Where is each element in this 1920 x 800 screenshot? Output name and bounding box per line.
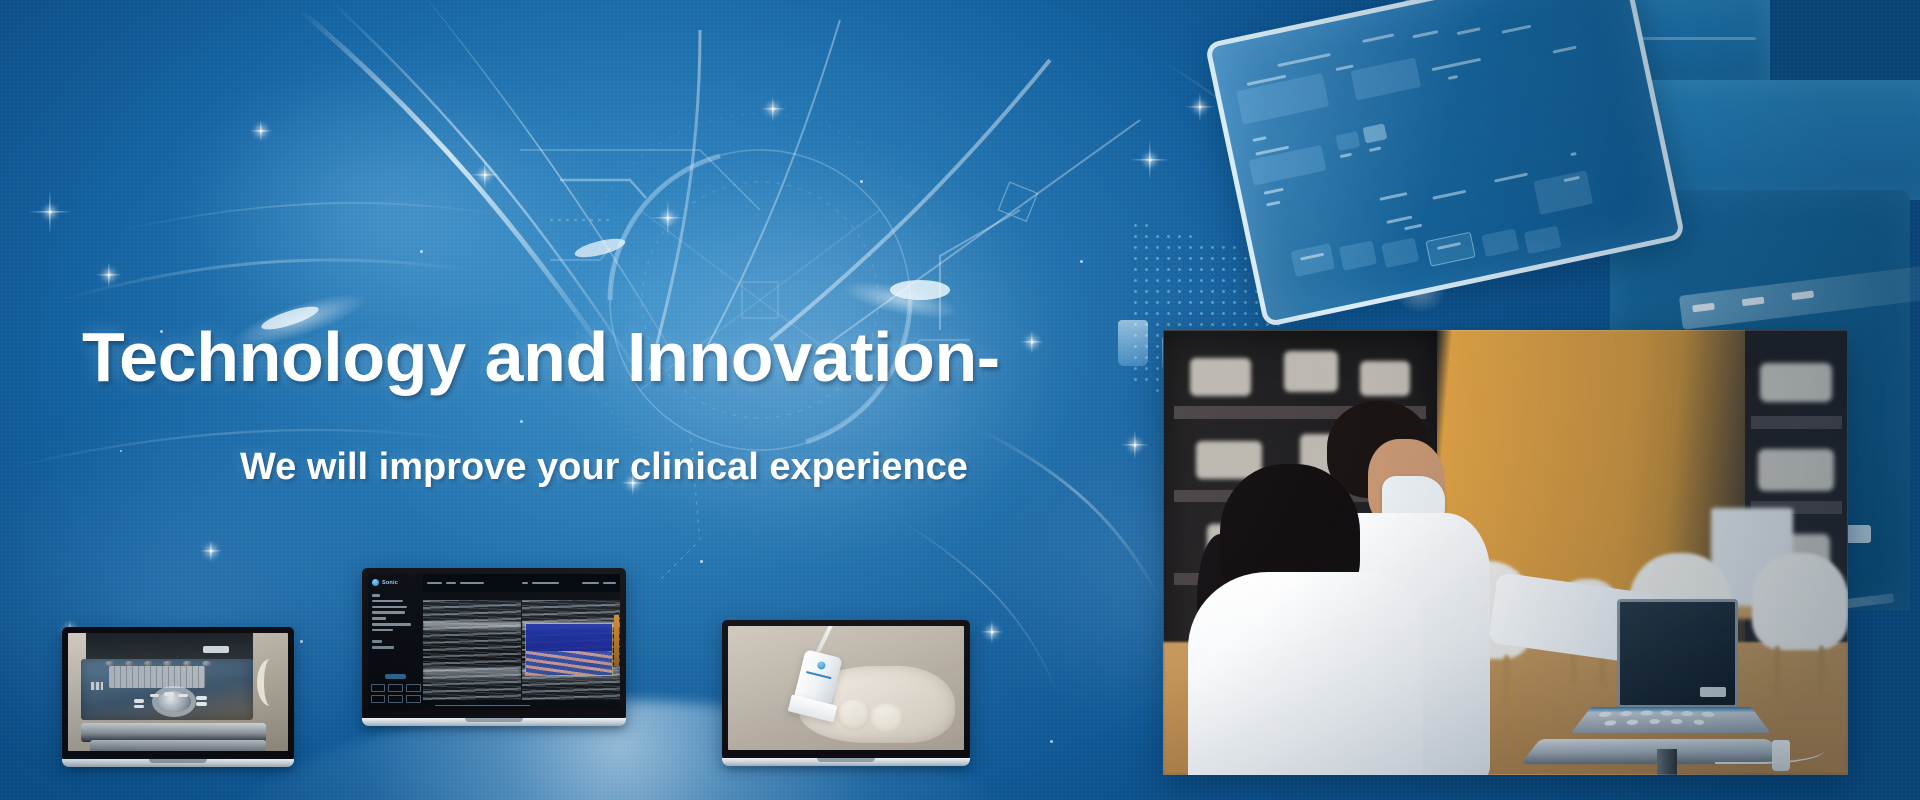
sparkle-star xyxy=(250,120,272,142)
laptop-base xyxy=(362,718,626,726)
page-subtitle: We will improve your clinical experience xyxy=(240,448,968,486)
software-toolbar xyxy=(371,674,421,703)
sparkle-star xyxy=(470,160,500,190)
hero-banner: Technology and Innovation- We will impro… xyxy=(0,0,1920,800)
particle-dot xyxy=(520,420,523,423)
laptop-base xyxy=(722,758,970,766)
toolbar-icon-grid[interactable] xyxy=(371,684,421,703)
sparkle-star xyxy=(1020,330,1044,354)
glove-finger xyxy=(870,703,903,733)
bmode-image-pane xyxy=(423,600,521,710)
console-accent-stripe xyxy=(1679,264,1920,329)
software-logo: Sonic xyxy=(372,579,419,586)
particle-dot xyxy=(120,450,122,452)
clinicians-photo xyxy=(1163,330,1848,775)
software-status-bar xyxy=(423,574,620,592)
ultrasound-software-ui: Sonic xyxy=(368,574,620,710)
sparkle-star xyxy=(760,96,786,122)
particle-dot xyxy=(300,640,303,643)
sparkle-star xyxy=(1120,430,1150,460)
bmode-ultrasound-image xyxy=(423,600,521,710)
logo-bubble-icon xyxy=(372,579,379,586)
depth-scale-bar xyxy=(435,705,529,707)
laptop-lid xyxy=(62,627,294,759)
color-doppler-overlay xyxy=(526,624,612,675)
parameter-block-primary xyxy=(372,594,419,631)
ultrasound-control-panel-photo xyxy=(68,633,288,751)
panel-base xyxy=(90,740,266,751)
software-image-area xyxy=(423,574,620,710)
particle-dot xyxy=(420,250,423,253)
console-touchscreen-panel xyxy=(1205,0,1686,328)
sparkle-star xyxy=(96,262,122,288)
ultrasound-console-illustration xyxy=(1100,0,1920,380)
doppler-color-scale xyxy=(614,615,619,666)
console-shelf xyxy=(1610,80,1920,200)
doppler-image-pane xyxy=(522,600,620,710)
console-support-arm xyxy=(1401,0,1628,116)
sparkle-star xyxy=(1185,92,1215,122)
particle-dot xyxy=(1080,260,1083,263)
probe-logo-icon xyxy=(816,661,826,671)
parameter-block-secondary xyxy=(372,640,419,648)
laptop-notch xyxy=(149,759,207,763)
console-drum xyxy=(1600,0,1770,94)
transducer-probe-photo xyxy=(728,626,964,750)
probe-cable xyxy=(257,659,279,706)
gel-bottle xyxy=(1118,320,1148,366)
laptop-screen xyxy=(728,626,964,750)
laptop-notch xyxy=(465,718,523,722)
laptop-screen: Sonic xyxy=(368,574,620,710)
page-title: Technology and Innovation- xyxy=(82,322,1000,392)
laptop-screen xyxy=(68,633,288,751)
sparkle-star xyxy=(980,620,1004,644)
logo-wordmark: Sonic xyxy=(382,580,398,586)
photo-border xyxy=(1163,330,1848,775)
toolbar-button[interactable] xyxy=(385,674,406,679)
software-footer xyxy=(423,700,620,710)
screen-glare xyxy=(1205,0,1563,328)
particle-dot xyxy=(860,180,863,183)
laptop-mockup-scan-software: Sonic xyxy=(362,568,626,726)
probe-label xyxy=(806,671,832,680)
sparkle-star xyxy=(200,540,222,562)
sparkle-star xyxy=(28,190,72,234)
panel-buttons xyxy=(133,692,212,710)
laptop-mockup-transducer xyxy=(722,620,970,766)
panel-keyboard xyxy=(109,666,205,688)
laptop-mockup-control-panel xyxy=(62,627,294,767)
particle-dot xyxy=(700,560,703,563)
panel-side-buttons xyxy=(91,682,103,689)
sparkle-star xyxy=(1130,140,1170,180)
software-parameter-sidebar: Sonic xyxy=(368,574,423,710)
panel-rail xyxy=(81,723,266,742)
laptop-lid xyxy=(722,620,970,758)
panel-console xyxy=(81,659,253,720)
background-glow-1 xyxy=(180,60,600,360)
laptop-notch xyxy=(817,758,875,762)
laptop-lid: Sonic xyxy=(362,568,626,718)
glove-finger xyxy=(837,698,870,730)
particle-dot xyxy=(1050,740,1053,743)
laptop-base xyxy=(62,759,294,767)
sparkle-star xyxy=(650,200,686,236)
